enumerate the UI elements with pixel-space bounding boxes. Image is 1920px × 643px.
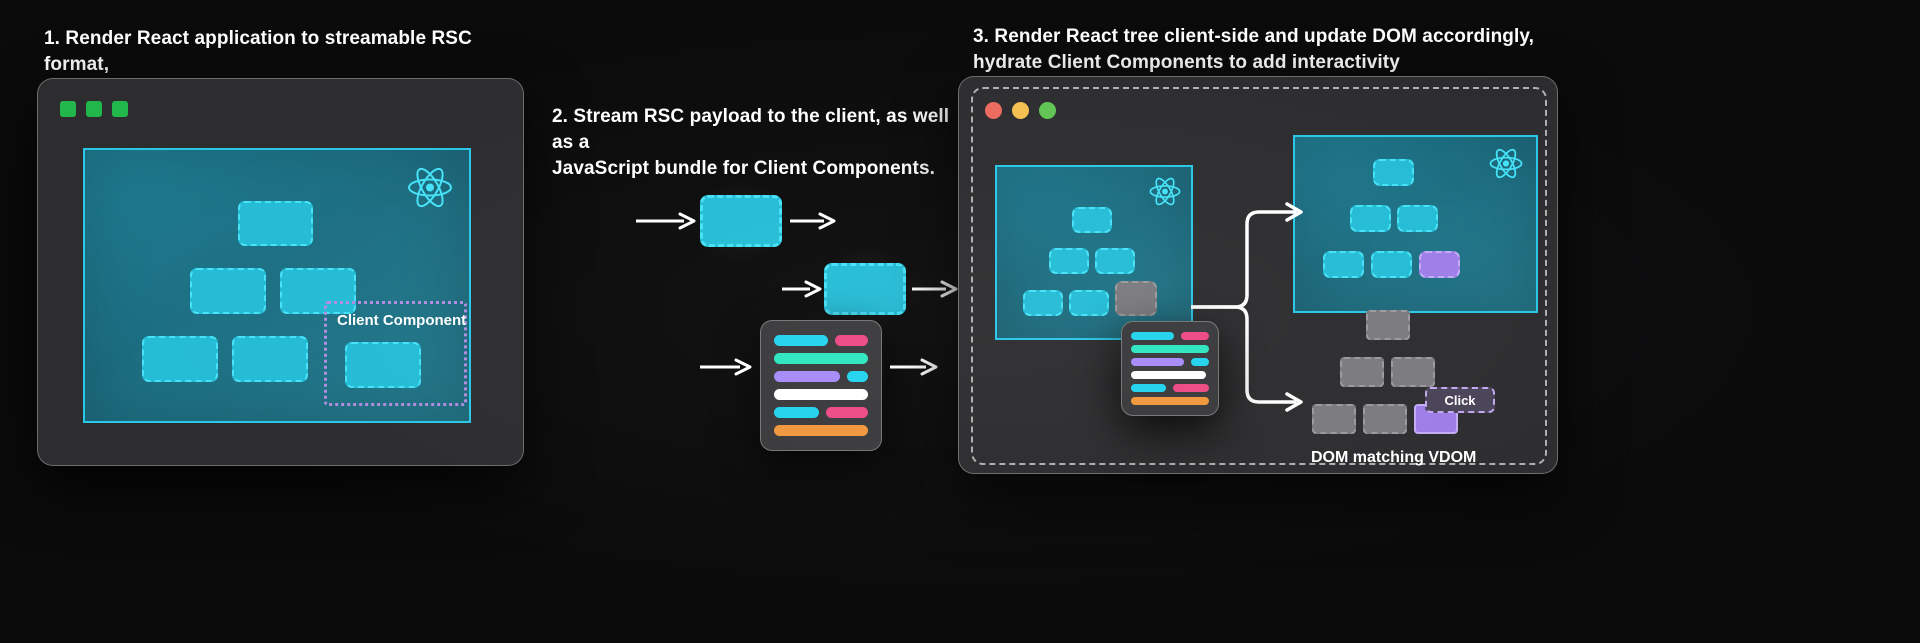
- window-dot-close[interactable]: [985, 102, 1002, 119]
- code-row: [1131, 332, 1209, 340]
- react-logo-icon: [407, 167, 453, 213]
- code-bar: [1131, 345, 1209, 353]
- window-dot-maximize[interactable]: [1039, 102, 1056, 119]
- arrow-into-bundle: [700, 357, 754, 382]
- javascript-bundle-card-client: [1121, 321, 1219, 416]
- code-bar: [1131, 397, 1209, 405]
- client-window: Click DOM matching VDOM: [958, 76, 1558, 474]
- code-bar: [774, 425, 868, 436]
- step-3-caption: 3. Render React tree client-side and upd…: [973, 24, 1633, 76]
- window-dot-2[interactable]: [86, 101, 102, 117]
- hydrated-node-root: [1373, 159, 1414, 186]
- hydrated-node-d: [1371, 251, 1412, 278]
- dom-node-b: [1391, 357, 1435, 387]
- javascript-bundle-card: [760, 320, 882, 451]
- tree-node-d: [232, 336, 308, 382]
- code-bar: [1131, 384, 1166, 392]
- code-row: [1131, 345, 1209, 353]
- hydrated-node-c: [1323, 251, 1364, 278]
- code-bar: [1131, 332, 1174, 340]
- dom-matching-vdom-label: DOM matching VDOM: [1311, 449, 1476, 467]
- code-row: [774, 389, 868, 400]
- hydrated-node-interactive: [1419, 251, 1460, 278]
- server-window: Client Component: [37, 78, 524, 466]
- client-tree-node-d: [1069, 290, 1109, 316]
- arrow-into-chunk-top: [636, 211, 698, 236]
- code-bar: [1173, 384, 1209, 392]
- code-row: [774, 371, 868, 382]
- client-component-label: Client Component: [337, 312, 466, 329]
- dom-node-c: [1312, 404, 1356, 434]
- window-dot-minimize[interactable]: [1012, 102, 1029, 119]
- code-row: [1131, 397, 1209, 405]
- client-tree-node-c: [1023, 290, 1063, 316]
- tree-node-root: [238, 201, 313, 246]
- client-tree-node-b: [1095, 248, 1135, 274]
- code-row: [1131, 371, 1209, 379]
- react-logo-icon-small: [1149, 177, 1181, 211]
- client-tree-node-a: [1049, 248, 1089, 274]
- react-logo-icon-hydrated: [1489, 148, 1523, 184]
- react-tree-client-hydrated: [1293, 135, 1538, 313]
- tree-node-c: [142, 336, 218, 382]
- rsc-chunk-top: [700, 195, 782, 247]
- code-row: [774, 425, 868, 436]
- code-bar: [1181, 332, 1209, 340]
- window-dots-right: [985, 102, 1056, 119]
- dom-node-d: [1363, 404, 1407, 434]
- react-tree-server: Client Component: [83, 148, 471, 423]
- code-row: [774, 353, 868, 364]
- tree-node-a: [190, 268, 266, 314]
- code-bar: [847, 371, 868, 382]
- hydrated-node-b: [1397, 205, 1438, 232]
- react-tree-client-incoming: [995, 165, 1193, 340]
- code-bar: [1131, 371, 1206, 379]
- code-bar: [774, 335, 828, 346]
- code-row: [1131, 358, 1209, 366]
- arrow-out-chunk-bottom: [912, 279, 960, 304]
- dom-node-a: [1340, 357, 1384, 387]
- window-dot-1[interactable]: [60, 101, 76, 117]
- code-bar: [774, 389, 868, 400]
- arrow-out-bundle: [890, 357, 940, 382]
- code-row: [774, 407, 868, 418]
- code-row: [774, 335, 868, 346]
- code-bar: [1191, 358, 1209, 366]
- code-bar: [835, 335, 868, 346]
- hydrated-node-a: [1350, 205, 1391, 232]
- window-dots-left: [60, 101, 128, 117]
- client-tree-node-placeholder: [1115, 281, 1157, 316]
- dom-node-root: [1366, 310, 1410, 340]
- code-bar: [826, 407, 868, 418]
- code-row: [1131, 384, 1209, 392]
- click-tooltip: Click: [1425, 387, 1495, 413]
- client-tree-node-root: [1072, 207, 1112, 233]
- code-bar: [774, 407, 819, 418]
- code-bar: [774, 353, 868, 364]
- diagram-canvas: 1. Render React application to streamabl…: [0, 0, 1920, 643]
- code-bar: [1131, 358, 1184, 366]
- arrow-out-chunk-top: [790, 211, 838, 236]
- rsc-chunk-box: [700, 195, 782, 247]
- code-bar: [774, 371, 840, 382]
- window-dot-3[interactable]: [112, 101, 128, 117]
- tree-node-client: [345, 342, 421, 388]
